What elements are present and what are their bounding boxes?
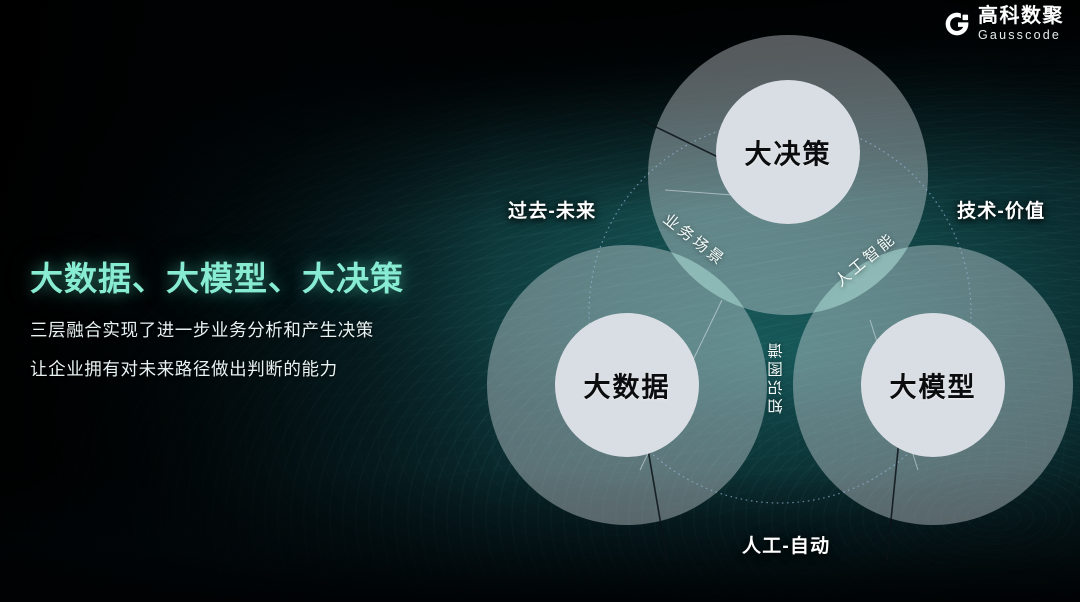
axis-label-past-future: 过去-未来	[508, 196, 596, 223]
page-title: 大数据、大模型、大决策	[30, 252, 500, 300]
venn-label-bigdata: 大数据	[584, 366, 671, 405]
slide-root: 高科数聚 Gausscode 大数据、大模型、大决策 三层融合实现了进一步业务分…	[0, 0, 1080, 602]
venn-diagram	[470, 0, 1080, 602]
subtitle-line-2: 让企业拥有对未来路径做出判断的能力	[30, 356, 500, 381]
axis-label-manual-auto: 人工-自动	[742, 531, 830, 558]
subtitle-line-1: 三层融合实现了进一步业务分析和产生决策	[30, 317, 500, 342]
venn-label-model: 大模型	[890, 366, 977, 405]
venn-label-decision: 大决策	[745, 133, 832, 172]
axis-label-tech-value: 技术-价值	[957, 196, 1045, 223]
headline-block: 大数据、大模型、大决策 三层融合实现了进一步业务分析和产生决策 让企业拥有对未来…	[30, 252, 500, 381]
venn-intersection-label-knowledge-graph: 知识图谱	[766, 340, 788, 414]
